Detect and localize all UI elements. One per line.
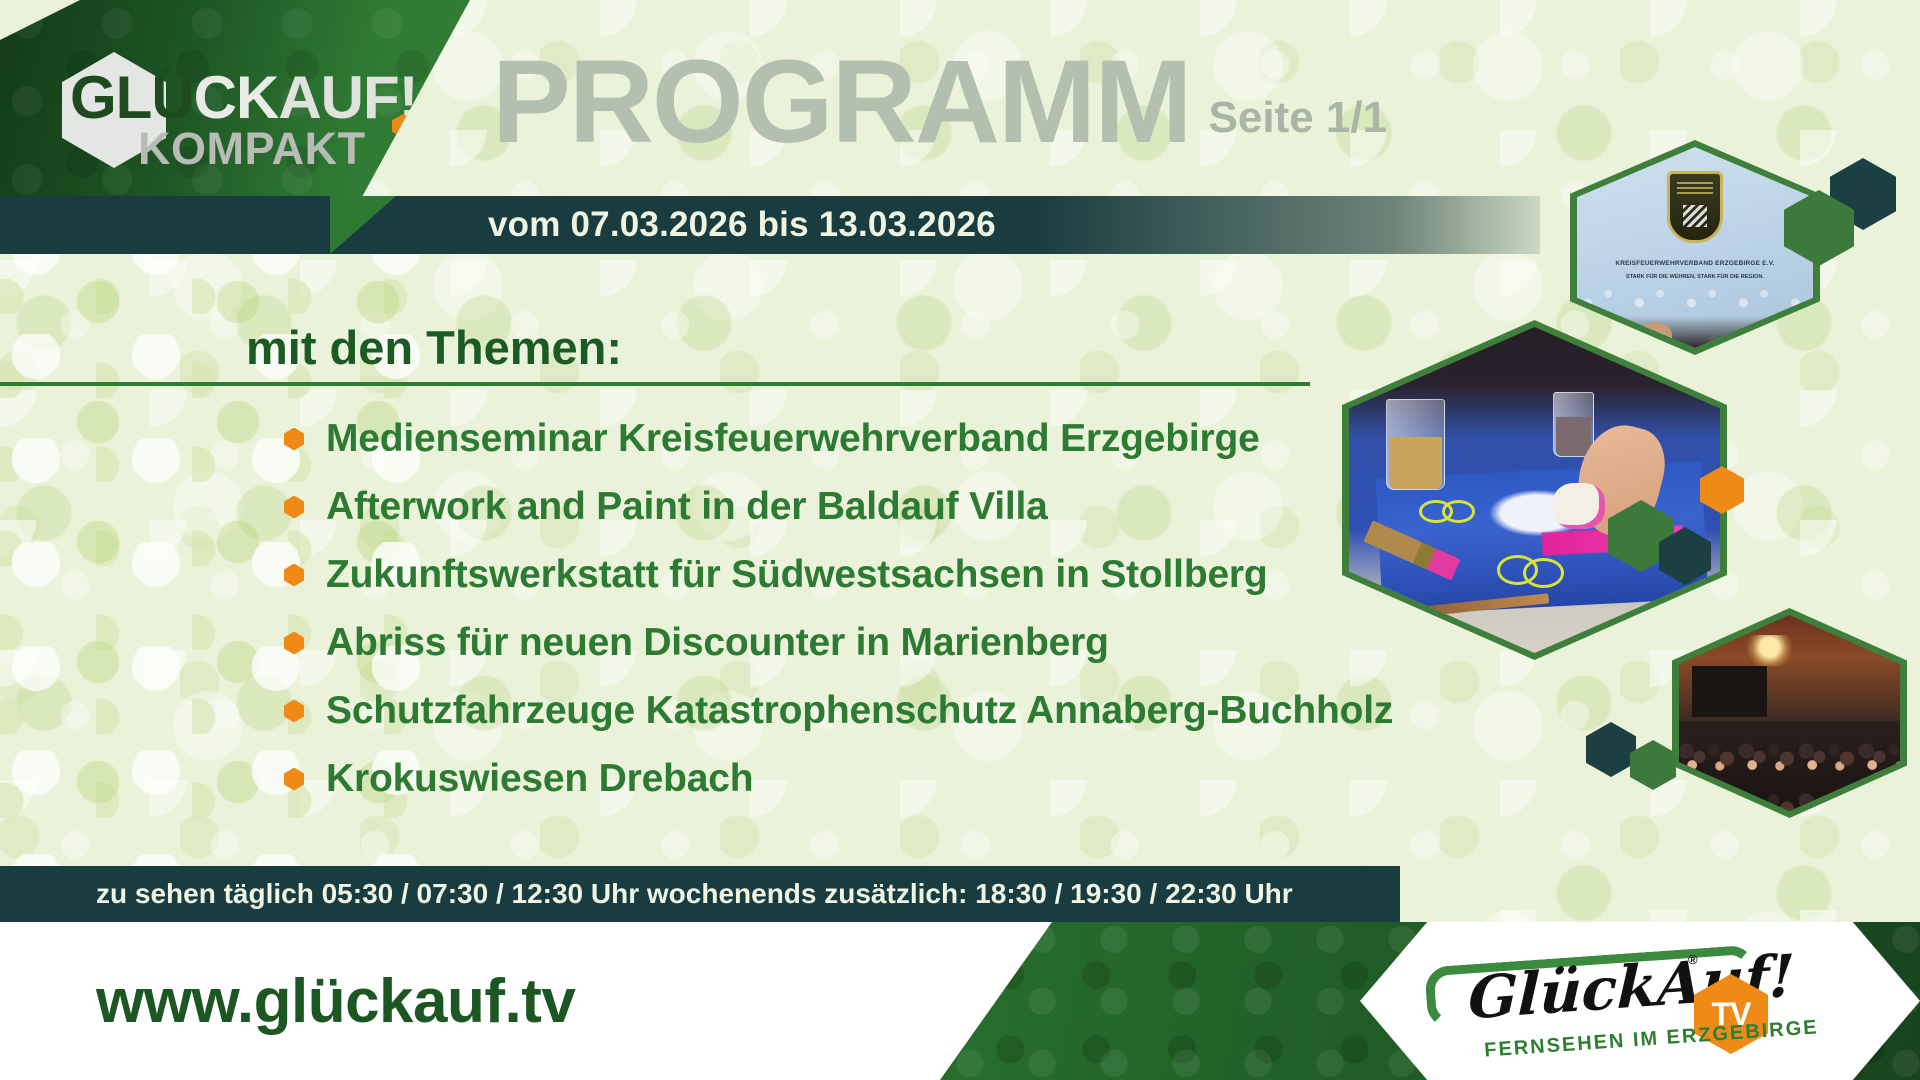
photo-image bbox=[1679, 615, 1900, 811]
themes-divider bbox=[0, 382, 1310, 386]
list-item: Afterwork and Paint in der Baldauf Villa bbox=[284, 473, 1414, 541]
orange-hexagon-bullet-icon bbox=[284, 700, 304, 723]
footer: www.glückauf.tv GlückAuf! ® TV FERNSEHEN… bbox=[0, 922, 1920, 1080]
glueckauf-tv-logo[interactable]: GlückAuf! ® TV FERNSEHEN IM ERZGEBIRGE bbox=[1422, 948, 1842, 1060]
list-item: Abriss für neuen Discounter in Marienber… bbox=[284, 609, 1414, 677]
website-url[interactable]: www.glückauf.tv bbox=[96, 966, 575, 1037]
list-item: Medienseminar Kreisfeuerwehrverband Erzg… bbox=[284, 405, 1414, 473]
list-item-label: Abriss für neuen Discounter in Marienber… bbox=[326, 621, 1109, 665]
logo-wordmark-line1: GLÜCKAUF! bbox=[70, 68, 418, 128]
projection-screen bbox=[1692, 666, 1767, 717]
orange-hexagon-bullet-icon bbox=[284, 768, 304, 791]
list-item-label: Krokuswiesen Drebach bbox=[326, 757, 753, 801]
decorative-hexagon-icon bbox=[1630, 740, 1676, 790]
chandelier-light bbox=[1745, 635, 1794, 666]
banner-foreground-shadow bbox=[1577, 316, 1813, 348]
page-title: PROGRAMM bbox=[492, 48, 1191, 157]
audience-crowd bbox=[1679, 721, 1900, 811]
fire-brigade-banner-photo: KREISFEUERWEHRVERBAND ERZGEBIRGE E.V. ST… bbox=[1570, 140, 1820, 355]
registered-trademark-icon: ® bbox=[1688, 952, 1698, 967]
tissue-with-paint bbox=[1553, 483, 1605, 529]
broadcast-schedule-bar: zu sehen täglich 05:30 / 07:30 / 12:30 U… bbox=[0, 866, 1400, 922]
plastic-cup bbox=[1553, 392, 1594, 457]
date-bar-left-fill bbox=[0, 196, 360, 254]
themes-heading: mit den Themen: bbox=[246, 320, 622, 375]
orange-hexagon-bullet-icon bbox=[284, 496, 304, 519]
yellow-ring-paint bbox=[1523, 558, 1564, 587]
fire-brigade-crest-icon bbox=[1667, 171, 1723, 243]
orange-hexagon-bullet-icon bbox=[284, 632, 304, 655]
list-item-label: Schutzfahrzeuge Katastrophenschutz Annab… bbox=[326, 689, 1393, 733]
list-item: Schutzfahrzeuge Katastrophenschutz Annab… bbox=[284, 677, 1414, 745]
date-range-bar: vom 07.03.2026 bis 13.03.2026 bbox=[330, 196, 1540, 254]
orange-hexagon-bullet-icon bbox=[284, 564, 304, 587]
audience-hall-photo bbox=[1672, 608, 1907, 818]
logo-wordmark-kompakt: KOMPAKT bbox=[138, 126, 366, 171]
orange-hexagon-bullet-icon bbox=[284, 428, 304, 451]
date-range-text: vom 07.03.2026 bis 13.03.2026 bbox=[488, 205, 996, 245]
broadcast-schedule-text: zu sehen täglich 05:30 / 07:30 / 12:30 U… bbox=[96, 878, 1293, 910]
page-title-group: PROGRAMM Seite 1/1 bbox=[492, 48, 1387, 157]
banner-caption-line1: KREISFEUERWEHRVERBAND ERZGEBIRGE E.V. bbox=[1596, 260, 1794, 267]
topic-list: Medienseminar Kreisfeuerwehrverband Erzg… bbox=[284, 405, 1414, 813]
person-head bbox=[1638, 322, 1672, 348]
person-head bbox=[1747, 322, 1781, 348]
yellow-ring-paint bbox=[1442, 500, 1475, 523]
decorative-hexagon-icon bbox=[1586, 722, 1636, 777]
programm-slide: GLÜCKAUF! KOMPAKT PROGRAMM Seite 1/1 vom… bbox=[0, 0, 1920, 1080]
list-item-label: Zukunftswerkstatt für Südwestsachsen in … bbox=[326, 553, 1268, 597]
page-indicator: Seite 1/1 bbox=[1209, 93, 1388, 157]
logo-wordmark-ck: CK bbox=[194, 64, 279, 131]
photo-image: KREISFEUERWEHRVERBAND ERZGEBIRGE E.V. ST… bbox=[1577, 147, 1813, 348]
list-item-label: Afterwork and Paint in der Baldauf Villa bbox=[326, 485, 1048, 529]
list-item: Zukunftswerkstatt für Südwestsachsen in … bbox=[284, 541, 1414, 609]
logo-wordmark-gluck: GLÜ bbox=[70, 64, 194, 131]
list-item: Krokuswiesen Drebach bbox=[284, 745, 1414, 813]
list-item-label: Medienseminar Kreisfeuerwehrverband Erzg… bbox=[326, 417, 1260, 461]
glueckauf-kompakt-logo: GLÜCKAUF! KOMPAKT bbox=[62, 52, 402, 182]
crest-top-detail bbox=[1677, 180, 1713, 195]
plastic-cup bbox=[1386, 399, 1445, 490]
